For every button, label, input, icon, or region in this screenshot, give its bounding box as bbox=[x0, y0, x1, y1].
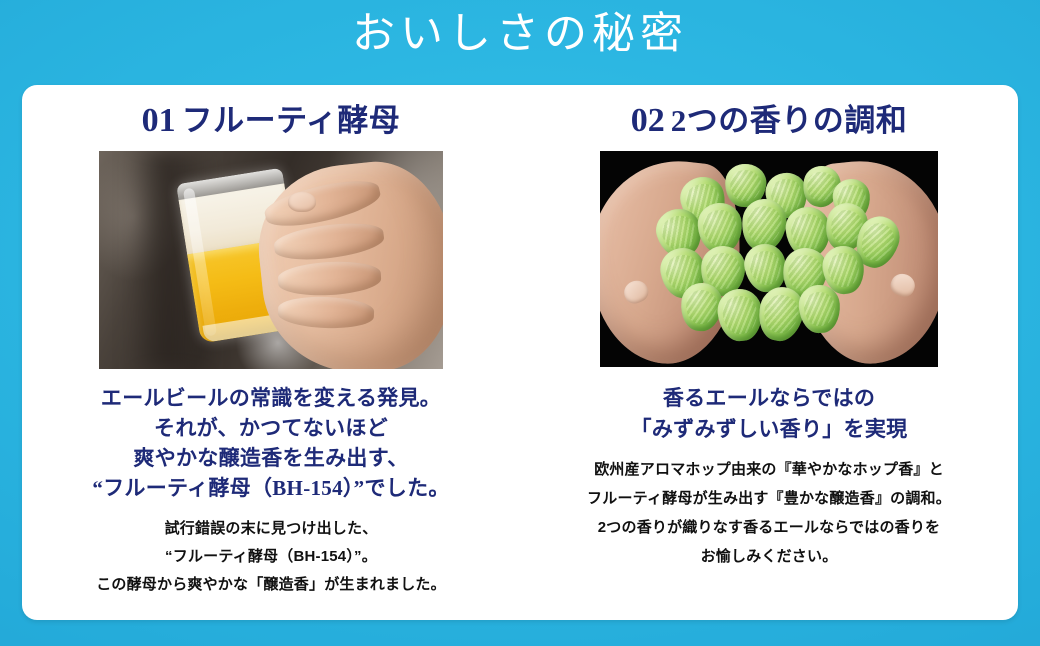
thumb-nail bbox=[288, 192, 316, 212]
feature-text-block-01: エールビールの常識を変える発見。 それが、かつてないほど 爽やかな醸造香を生み出… bbox=[22, 383, 520, 599]
promo-page: おいしさの秘密 01フルーティ酵母 bbox=[0, 0, 1040, 646]
feature-heading-02: 022つの香りの調和 bbox=[520, 101, 1018, 141]
feature-lead-01: エールビールの常識を変える発見。 それが、かつてないほど 爽やかな醸造香を生み出… bbox=[22, 383, 520, 503]
feature-text-block-02: 香るエールならではの 「みずみずしい香り」を実現 欧州産アロマホップ由来の『華や… bbox=[520, 383, 1018, 571]
beer-in-beaker-photo bbox=[99, 151, 443, 369]
content-card: 01フルーティ酵母 bbox=[22, 85, 1018, 620]
feature-column-02: 022つの香りの調和 bbox=[520, 85, 1018, 620]
beer-photo-canvas bbox=[99, 151, 443, 369]
feature-heading-label-01: フルーティ酵母 bbox=[182, 103, 401, 138]
feature-heading-01: 01フルーティ酵母 bbox=[22, 101, 520, 141]
feature-columns: 01フルーティ酵母 bbox=[22, 85, 1018, 620]
page-title: おいしさの秘密 bbox=[0, 8, 1040, 62]
feature-body-01: 試行錯誤の末に見つけ出した、 “フルーティ酵母（BH-154）”。 この酵母から… bbox=[22, 515, 520, 599]
feature-number-02: 02 bbox=[631, 102, 665, 139]
feature-column-01: 01フルーティ酵母 bbox=[22, 85, 520, 620]
hop-cone bbox=[716, 287, 765, 343]
feature-heading-label-02: 2つの香りの調和 bbox=[671, 103, 908, 138]
feature-number-01: 01 bbox=[142, 102, 176, 139]
hops-photo-canvas bbox=[600, 151, 938, 367]
hops-in-hands-photo bbox=[600, 151, 938, 367]
feature-lead-02: 香るエールならではの 「みずみずしい香り」を実現 bbox=[520, 383, 1018, 445]
feature-body-02: 欧州産アロマホップ由来の『華やかなホップ香』と フルーティ酵母が生み出す『豊かな… bbox=[520, 455, 1018, 571]
